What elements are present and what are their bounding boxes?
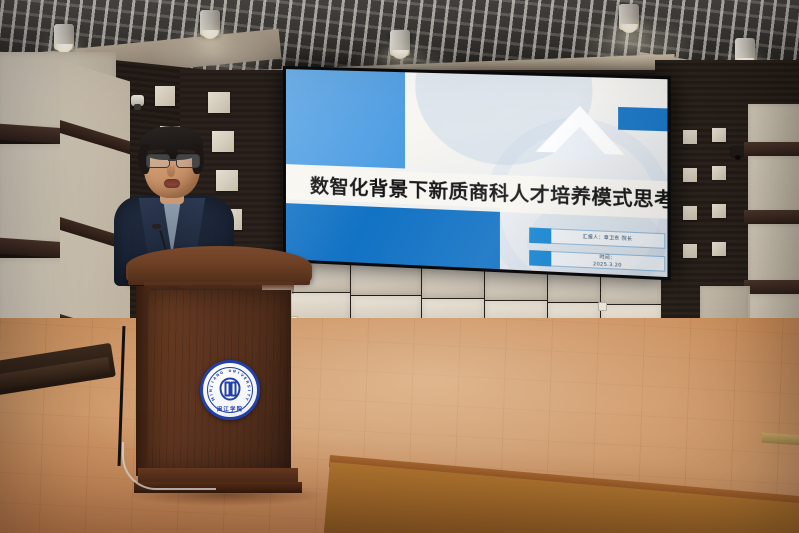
date-value: 2025.3.20 — [593, 261, 622, 270]
emblem-chinese-text: 闽江学院 — [203, 405, 257, 413]
slide-chevron-inner-icon — [549, 125, 610, 160]
presenter-tab — [529, 227, 551, 243]
wall-panel-square — [683, 244, 697, 258]
slide-shape-corner-blue — [618, 107, 667, 131]
wall-camera-icon — [731, 146, 745, 156]
downlight-icon — [619, 4, 639, 30]
emblem-char: G — [219, 371, 223, 376]
speaker-mouth — [164, 179, 180, 188]
emblem-char: N — [232, 369, 236, 374]
wall-panel-square — [712, 204, 726, 218]
emblem-char: J — [209, 385, 213, 387]
floor-cable — [122, 442, 216, 490]
downlight-icon — [390, 30, 410, 56]
emblem-char: R — [245, 380, 250, 384]
emblem-char: M — [211, 396, 216, 401]
wall-panel-square — [712, 128, 726, 142]
acoustic-panel — [748, 104, 799, 144]
led-screen[interactable]: 数智化背景下新质商科人才培养模式思考 汇报人：章卫东 院长 时间： 2025.3… — [283, 66, 671, 280]
emblem-char: Y — [244, 397, 249, 401]
wall-outlet[interactable] — [598, 302, 607, 311]
emblem-char: N — [209, 389, 213, 392]
acoustic-panel — [748, 224, 799, 282]
wall-panel-square — [155, 86, 175, 106]
date-tab — [529, 250, 551, 266]
lens-right — [176, 154, 200, 168]
acoustic-panel — [748, 156, 799, 212]
microphone-icon — [152, 224, 161, 229]
downlight-icon — [54, 24, 74, 50]
wood-band — [744, 210, 799, 225]
wall-panel-square — [712, 166, 726, 180]
wall-panel-square — [683, 130, 697, 144]
slide-shape-light-blue — [286, 69, 405, 168]
ptz-camera-icon — [131, 95, 144, 106]
emblem-char: I — [247, 390, 251, 391]
lecture-hall-photo: 数智化背景下新质商科人才培养模式思考 汇报人：章卫东 院长 时间： 2025.3… — [0, 0, 799, 533]
emblem-char: I — [211, 381, 215, 384]
glasses-bridge — [168, 159, 176, 161]
emblem-char: S — [246, 385, 250, 388]
wall-panel-square — [683, 206, 697, 220]
wall-panel-square — [683, 168, 697, 182]
wall-panel-square — [712, 242, 726, 256]
wood-band — [744, 280, 799, 295]
speaker-nose — [167, 166, 175, 177]
podium: MINJIANG UNIVERSITY 闽江学院 — [126, 246, 312, 496]
wood-band — [744, 142, 799, 157]
emblem-char: U — [229, 369, 232, 373]
emblem-book-mark — [220, 377, 241, 400]
slide-surface: 数智化背景下新质商科人才培养模式思考 汇报人：章卫东 院长 时间： 2025.3… — [286, 69, 667, 277]
emblem-char: T — [246, 393, 250, 396]
downlight-icon — [200, 10, 220, 36]
university-emblem: MINJIANG UNIVERSITY 闽江学院 — [200, 360, 260, 420]
wall-panel-square — [208, 92, 230, 113]
